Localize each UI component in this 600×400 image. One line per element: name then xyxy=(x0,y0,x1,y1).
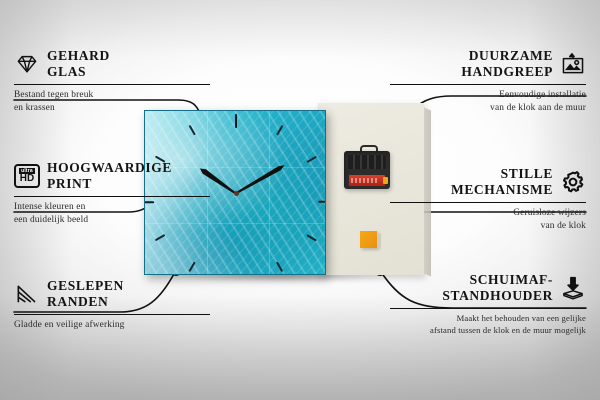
feature-subtitle: Bestand tegen breuk en krassen xyxy=(14,89,210,114)
framed-picture-icon xyxy=(560,51,586,77)
title-line-2: PRINT xyxy=(47,176,172,192)
feature-divider xyxy=(390,308,586,310)
title-line-2: MECHANISME xyxy=(451,182,553,198)
subtitle-line-2: en krassen xyxy=(14,102,210,114)
gear-icon xyxy=(560,169,586,195)
subtitle-line-1: Eenvoudige installatie xyxy=(390,89,586,101)
subtitle-line-1: Maakt het behouden van een gelijke xyxy=(390,313,586,324)
clock-movement xyxy=(344,145,390,189)
feature-header: STILLE MECHANISME xyxy=(390,166,586,198)
subtitle-line-2: van de klok aan de muur xyxy=(390,102,586,114)
subtitle-line-2: een duidelijk beeld xyxy=(14,214,210,226)
feature-divider xyxy=(14,84,210,86)
title-line-2: GLAS xyxy=(47,64,110,80)
clock-tick xyxy=(276,125,283,135)
clock-tick xyxy=(306,234,316,241)
press-down-pad-icon xyxy=(560,275,586,301)
battery xyxy=(349,175,385,186)
feature-subtitle: Geruisloze wijzers van de klok xyxy=(390,207,586,232)
title-line-1: GESLEPEN xyxy=(47,278,124,294)
subtitle-line-1: Bestand tegen breuk xyxy=(14,89,210,101)
feature-subtitle: Maakt het behouden van een gelijke afsta… xyxy=(390,313,586,336)
feature-title: HOOGWAARDIGE PRINT xyxy=(47,160,172,192)
feature-duurzame-handgreep: DUURZAME HANDGREEP Eenvoudige installati… xyxy=(390,48,586,114)
subtitle-line-2: afstand tussen de klok en de muur mogeli… xyxy=(390,325,586,336)
title-line-1: HOOGWAARDIGE xyxy=(47,160,172,176)
title-line-2: HANDGREEP xyxy=(461,64,553,80)
feature-subtitle: Eenvoudige installatie van de klok aan d… xyxy=(390,89,586,114)
feature-header: GESLEPEN RANDEN xyxy=(14,278,210,310)
battery-label xyxy=(351,178,377,183)
feature-header: SCHUIMAF- STANDHOUDER xyxy=(390,272,586,304)
feature-stille-mechanisme: STILLE MECHANISME Geruisloze wijzers van… xyxy=(390,166,586,232)
title-line-2: RANDEN xyxy=(47,294,124,310)
movement-texture xyxy=(348,155,386,169)
battery-terminal xyxy=(383,177,388,184)
subtitle-line-2: van de klok xyxy=(390,220,586,232)
feature-geslepen-randen: GESLEPEN RANDEN Gladde en veilige afwerk… xyxy=(14,278,210,332)
feature-hoogwaardige-print: ultra HD HOOGWAARDIGE PRINT Intense kleu… xyxy=(14,160,210,226)
title-line-1: DUURZAME xyxy=(461,48,553,64)
subtitle-line-1: Intense kleuren en xyxy=(14,201,210,213)
title-line-2: STANDHOUDER xyxy=(442,288,553,304)
diagonal-lines-icon xyxy=(14,281,40,307)
clock-tick xyxy=(276,262,283,272)
subtitle-line-1: Gladde en veilige afwerking xyxy=(14,319,210,331)
foam-spacer xyxy=(360,231,377,248)
glass-seam xyxy=(269,111,270,274)
feature-header: ultra HD HOOGWAARDIGE PRINT xyxy=(14,160,210,192)
feature-title: DUURZAME HANDGREEP xyxy=(461,48,553,80)
feature-header: GEHARD GLAS xyxy=(14,48,210,80)
infographic-canvas: GEHARD GLAS Bestand tegen breuk en krass… xyxy=(0,0,600,400)
feature-divider xyxy=(390,84,586,86)
ultra-hd-badge-icon: ultra HD xyxy=(14,164,40,188)
feature-divider xyxy=(390,202,586,204)
badge-hd-text: HD xyxy=(20,174,34,184)
feature-gehard-glas: GEHARD GLAS Bestand tegen breuk en krass… xyxy=(14,48,210,114)
feature-subtitle: Intense kleuren en een duidelijk beeld xyxy=(14,201,210,226)
diamond-icon xyxy=(14,51,40,77)
movement-body xyxy=(344,151,390,189)
clock-tick xyxy=(318,200,326,202)
feature-title: SCHUIMAF- STANDHOUDER xyxy=(442,272,553,304)
minute-hand xyxy=(235,163,286,195)
clock-tick xyxy=(306,155,316,162)
feature-header: DUURZAME HANDGREEP xyxy=(390,48,586,80)
title-line-1: GEHARD xyxy=(47,48,110,64)
subtitle-line-1: Geruisloze wijzers xyxy=(390,207,586,219)
feature-title: GEHARD GLAS xyxy=(47,48,110,80)
feature-divider xyxy=(14,314,210,316)
title-line-1: SCHUIMAF- xyxy=(442,272,553,288)
clock-tick xyxy=(235,114,237,128)
feature-title: GESLEPEN RANDEN xyxy=(47,278,124,310)
feature-divider xyxy=(14,196,210,198)
feature-schuimafstandhouder: SCHUIMAF- STANDHOUDER Maakt het behouden… xyxy=(390,272,586,336)
clock-pivot xyxy=(234,191,239,196)
title-line-1: STILLE xyxy=(451,166,553,182)
feature-subtitle: Gladde en veilige afwerking xyxy=(14,319,210,331)
feature-title: STILLE MECHANISME xyxy=(451,166,553,198)
